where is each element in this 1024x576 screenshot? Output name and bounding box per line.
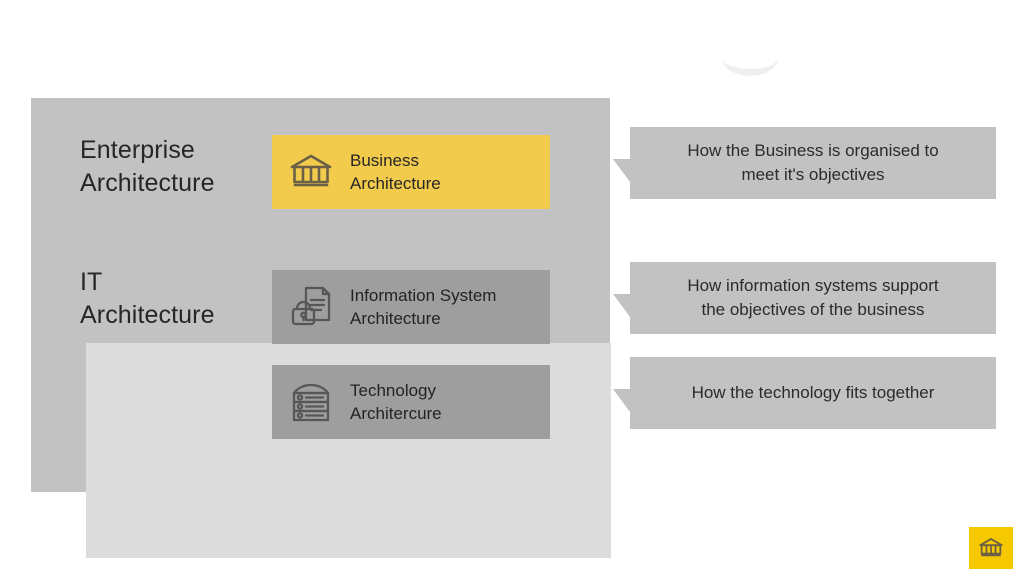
bank-icon (286, 147, 336, 197)
callout-tail-icon (613, 389, 630, 412)
it-architecture-label: IT Architecture (80, 266, 215, 332)
callout-business-architecture: How the Business is organised to meet it… (630, 127, 996, 199)
corner-badge[interactable] (969, 527, 1013, 569)
tile-business-architecture[interactable]: Business Architecture (272, 135, 550, 209)
top-cropped-artifact (722, 50, 778, 76)
tile-technology-architecture[interactable]: Technology Architercure (272, 365, 550, 439)
server-stack-icon (286, 377, 336, 427)
callout-technology-architecture: How the technology fits together (630, 357, 996, 429)
slide-canvas: Enterprise Architecture IT Architecture … (0, 0, 1024, 576)
bank-icon (978, 535, 1004, 561)
tile-business-architecture-label: Business Architecture (350, 149, 441, 195)
tile-information-system-architecture-label: Information System Architecture (350, 284, 496, 330)
callout-tail-icon (613, 294, 630, 317)
document-lock-icon (286, 282, 336, 332)
callout-technology-architecture-text: How the technology fits together (692, 381, 935, 405)
callout-information-system-architecture-text: How information systems support the obje… (687, 274, 938, 322)
tile-information-system-architecture[interactable]: Information System Architecture (272, 270, 550, 344)
tile-technology-architecture-label: Technology Architercure (350, 379, 442, 425)
callout-tail-icon (613, 159, 630, 182)
callout-information-system-architecture: How information systems support the obje… (630, 262, 996, 334)
enterprise-architecture-label: Enterprise Architecture (80, 134, 215, 200)
callout-business-architecture-text: How the Business is organised to meet it… (687, 139, 938, 187)
